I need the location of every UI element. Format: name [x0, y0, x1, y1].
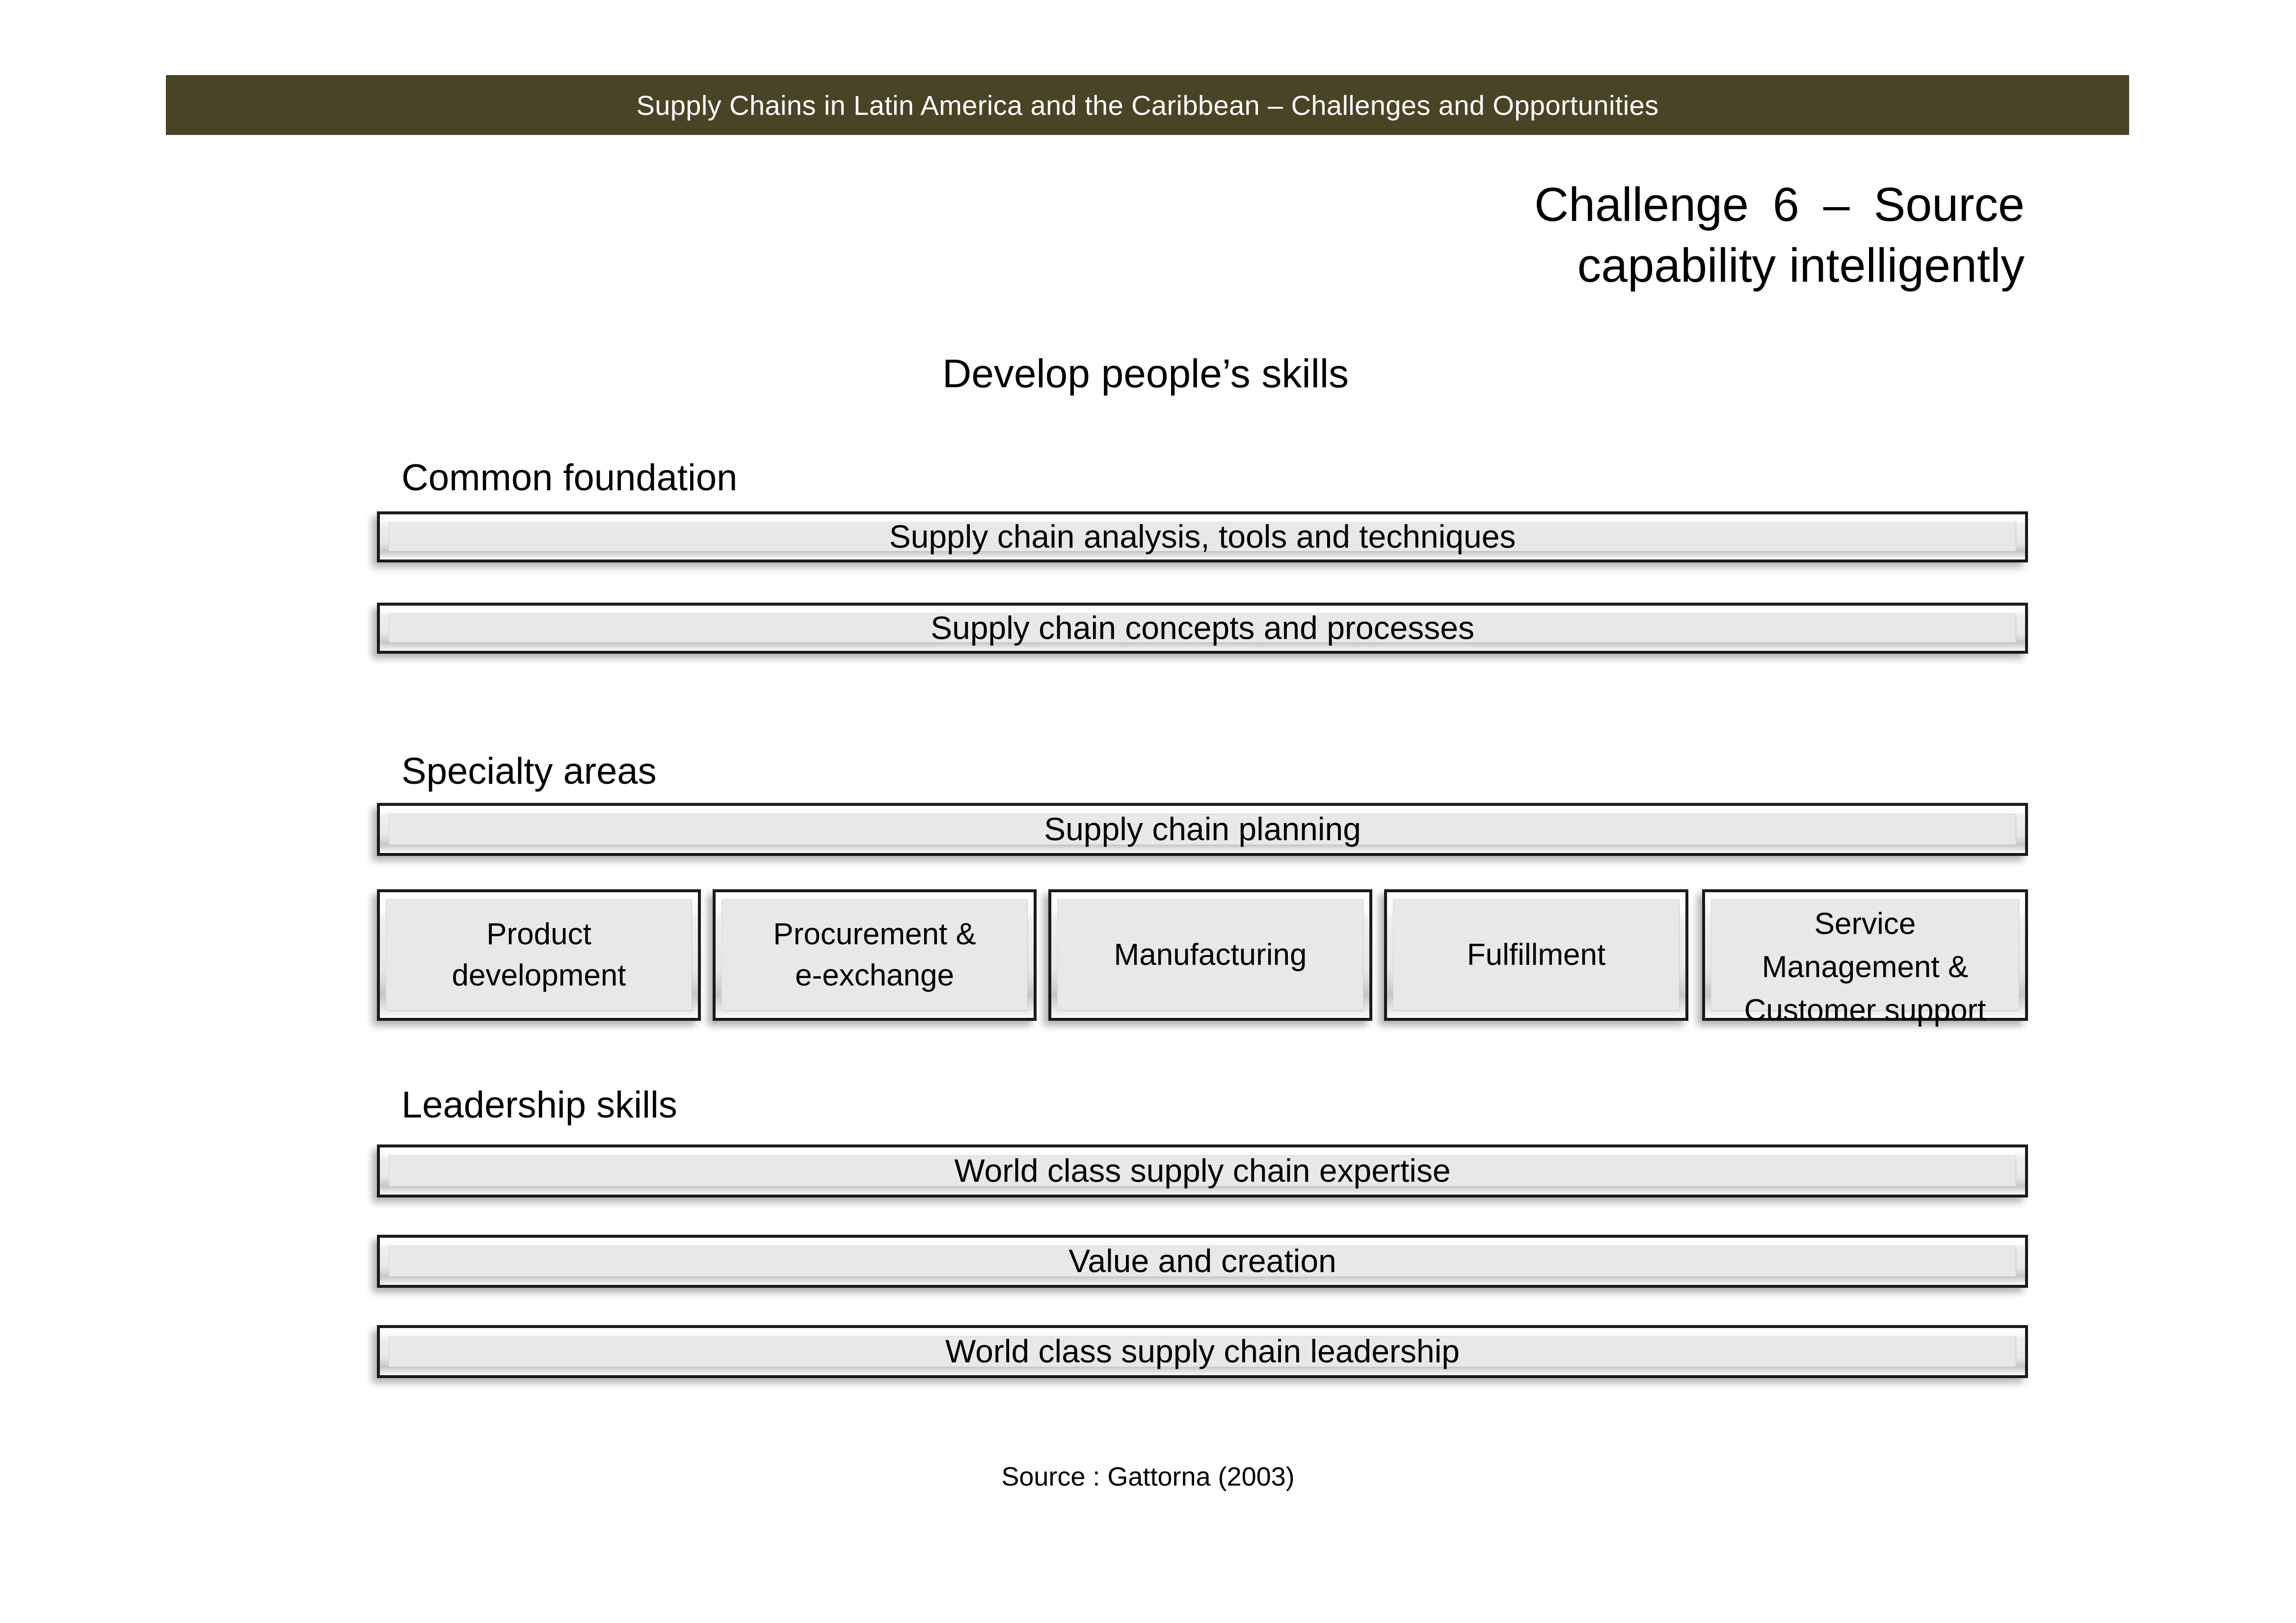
- bar-bevel: World class supply chain expertise: [380, 1147, 2025, 1195]
- bar-bevel: Supply chain planning: [380, 806, 2025, 853]
- bar-face: World class supply chain leadership: [389, 1336, 2016, 1367]
- bar-bevel: Supply chain concepts and processes: [380, 606, 2025, 651]
- box-face: Product development: [386, 899, 692, 1011]
- bar-bevel: Supply chain analysis, tools and techniq…: [380, 514, 2025, 559]
- box-face: Fulfillment: [1393, 899, 1680, 1011]
- bar-label: World class supply chain expertise: [951, 1153, 1453, 1189]
- bar-bevel: Value and creation: [380, 1238, 2025, 1285]
- box-face: Procurement & e-exchange: [721, 899, 1028, 1011]
- box-bevel: Manufacturing: [1051, 892, 1369, 1018]
- box-bevel: Product development: [380, 892, 698, 1018]
- header-banner-title: Supply Chains in Latin America and the C…: [636, 89, 1658, 121]
- bar-label: World class supply chain leadership: [942, 1333, 1463, 1370]
- box-procurement-e-exchange[interactable]: Procurement & e-exchange: [713, 889, 1037, 1021]
- header-banner: Supply Chains in Latin America and the C…: [166, 75, 2129, 135]
- bar-bevel: World class supply chain leadership: [380, 1328, 2025, 1375]
- bar-supply-chain-analysis[interactable]: Supply chain analysis, tools and techniq…: [377, 511, 2028, 562]
- slide-title: Challenge 6 – Source capability intellig…: [1288, 174, 2025, 296]
- bar-world-class-expertise[interactable]: World class supply chain expertise: [377, 1144, 2028, 1197]
- slide-title-line-2: capability intelligently: [1288, 235, 2025, 296]
- box-service-management-customer-support[interactable]: Service Management & Customer support: [1702, 889, 2028, 1021]
- bar-face: Value and creation: [389, 1246, 2016, 1277]
- box-face: Service Management & Customer support: [1711, 899, 2019, 1011]
- bar-face: Supply chain concepts and processes: [389, 613, 2016, 643]
- slide-title-line-1: Challenge 6 – Source: [1288, 174, 2025, 235]
- box-bevel: Procurement & e-exchange: [716, 892, 1034, 1018]
- box-label: Service Management & Customer support: [1741, 903, 1989, 1032]
- bar-supply-chain-concepts[interactable]: Supply chain concepts and processes: [377, 603, 2028, 654]
- slide-canvas: Supply Chains in Latin America and the C…: [0, 0, 2296, 1623]
- box-label: Procurement & e-exchange: [770, 914, 979, 996]
- bar-label: Supply chain analysis, tools and techniq…: [886, 519, 1519, 555]
- box-manufacturing[interactable]: Manufacturing: [1048, 889, 1372, 1021]
- box-label: Manufacturing: [1111, 934, 1310, 976]
- bar-face: World class supply chain expertise: [389, 1155, 2016, 1187]
- bar-world-class-leadership[interactable]: World class supply chain leadership: [377, 1325, 2028, 1378]
- bar-supply-chain-planning[interactable]: Supply chain planning: [377, 803, 2028, 856]
- box-label: Product development: [449, 914, 629, 996]
- section-heading-specialty-areas: Specialty areas: [401, 750, 657, 793]
- box-face: Manufacturing: [1057, 899, 1363, 1011]
- box-bevel: Service Management & Customer support: [1705, 892, 2025, 1018]
- bar-face: Supply chain planning: [389, 814, 2016, 845]
- bar-label: Supply chain concepts and processes: [928, 610, 1477, 646]
- box-bevel: Fulfillment: [1387, 892, 1685, 1018]
- box-label: Fulfillment: [1464, 934, 1609, 976]
- bar-label: Supply chain planning: [1041, 811, 1364, 848]
- section-heading-common-foundation: Common foundation: [401, 456, 737, 499]
- source-citation: Source : Gattorna (2003): [0, 1462, 2296, 1492]
- box-product-development[interactable]: Product development: [377, 889, 701, 1021]
- bar-face: Supply chain analysis, tools and techniq…: [389, 522, 2016, 552]
- box-fulfillment[interactable]: Fulfillment: [1384, 889, 1688, 1021]
- bar-value-and-creation[interactable]: Value and creation: [377, 1235, 2028, 1288]
- slide-subtitle: Develop people’s skills: [942, 351, 1349, 397]
- bar-label: Value and creation: [1066, 1243, 1339, 1279]
- section-heading-leadership-skills: Leadership skills: [401, 1084, 677, 1126]
